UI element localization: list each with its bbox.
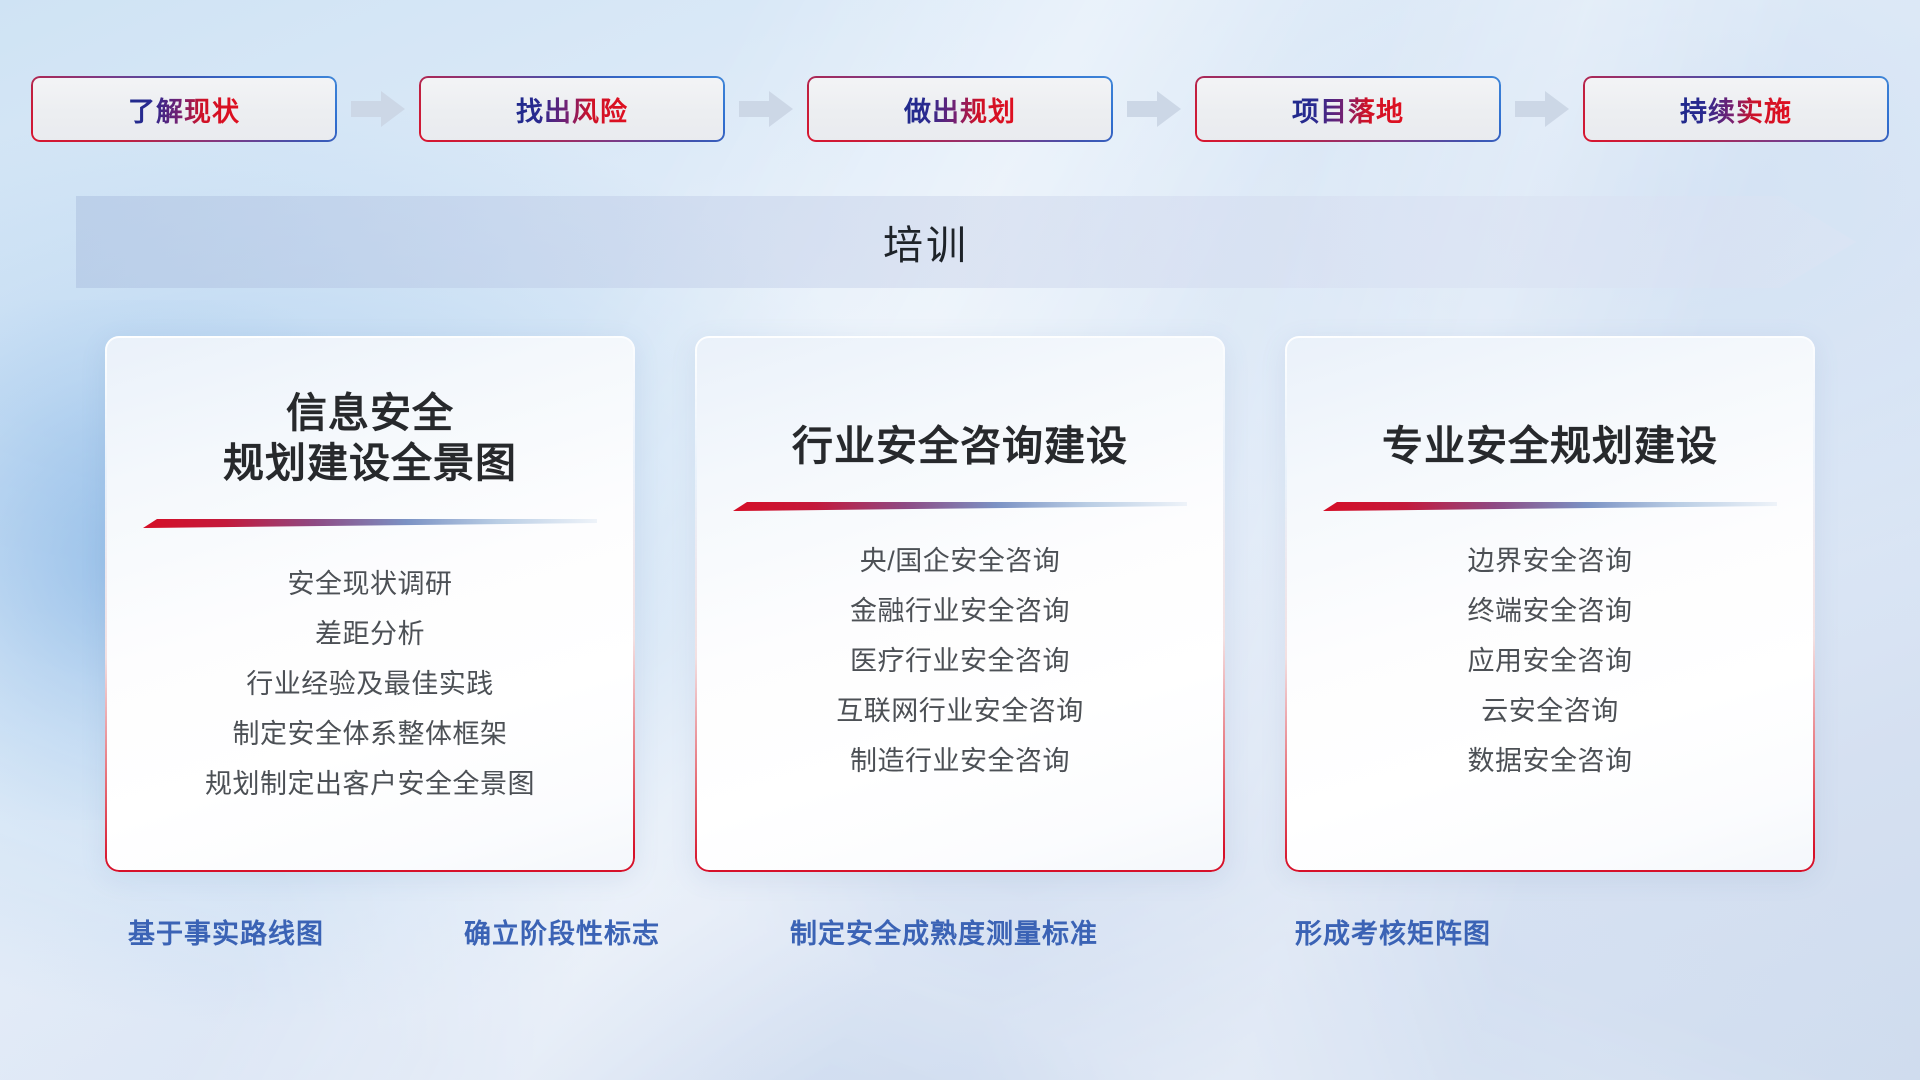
card-divider-rule: [733, 501, 1187, 512]
arrow-right-icon: [351, 91, 405, 127]
arrow-right-icon: [1127, 91, 1181, 127]
footnote-label-2: 确立阶段性标志: [464, 912, 660, 951]
list-item: 医疗行业安全咨询: [850, 636, 1070, 686]
step-box-1[interactable]: 了解现状: [31, 76, 337, 142]
step-label-4: 项目落地: [1292, 90, 1404, 129]
banner-title: 培训: [76, 196, 1856, 288]
list-item: 终端安全咨询: [1468, 586, 1633, 636]
list-item: 数据安全咨询: [1468, 736, 1633, 786]
card-row: 信息安全 规划建设全景图: [0, 336, 1920, 872]
footnote-row: 基于事实路线图 确立阶段性标志 制定安全成熟度测量标准 形成考核矩阵图: [0, 912, 1920, 964]
list-item: 行业经验及最佳实践: [246, 659, 494, 709]
card-title: 信息安全 规划建设全景图: [223, 388, 517, 488]
arrow-right-icon: [1515, 91, 1569, 127]
step-box-4[interactable]: 项目落地: [1195, 76, 1501, 142]
list-item: 云安全咨询: [1481, 686, 1619, 736]
process-step-row: 了解现状 找出风险 做出规划 项目落地 持续实施: [0, 76, 1920, 142]
card-title-line-1: 专业安全规划建设: [1382, 421, 1718, 471]
list-item: 规划制定出客户安全全景图: [205, 759, 535, 809]
arrow-right-icon: [739, 91, 793, 127]
list-item: 制造行业安全咨询: [850, 736, 1070, 786]
card-item-list: 边界安全咨询 终端安全咨询 应用安全咨询 云安全咨询 数据安全咨询: [1468, 536, 1633, 786]
card-title: 专业安全规划建设: [1382, 421, 1718, 471]
step-box-5[interactable]: 持续实施: [1583, 76, 1889, 142]
list-item: 央/国企安全咨询: [860, 536, 1061, 586]
list-item: 制定安全体系整体框架: [233, 709, 508, 759]
list-item: 边界安全咨询: [1468, 536, 1633, 586]
card-information-security-panorama[interactable]: 信息安全 规划建设全景图: [105, 336, 635, 872]
card-item-list: 央/国企安全咨询 金融行业安全咨询 医疗行业安全咨询 互联网行业安全咨询 制造行…: [836, 536, 1084, 786]
card-title-line-1: 信息安全: [223, 388, 517, 438]
step-label-5: 持续实施: [1680, 90, 1792, 129]
footnote-label-3: 制定安全成熟度测量标准: [790, 912, 1098, 951]
card-divider-rule: [143, 518, 597, 529]
card-industry-security-consulting[interactable]: 行业安全咨询建设: [695, 336, 1225, 872]
step-box-2[interactable]: 找出风险: [419, 76, 725, 142]
step-label-2: 找出风险: [516, 90, 628, 129]
step-label-3: 做出规划: [904, 90, 1016, 129]
card-item-list: 安全现状调研 差距分析 行业经验及最佳实践 制定安全体系整体框架 规划制定出客户…: [205, 559, 535, 809]
card-divider-rule: [1323, 501, 1777, 512]
card-title-line-1: 行业安全咨询建设: [792, 421, 1128, 471]
card-title-line-2: 规划建设全景图: [223, 438, 517, 488]
footnote-label-1: 基于事实路线图: [128, 912, 324, 951]
card-professional-security-planning[interactable]: 专业安全规划建设: [1285, 336, 1815, 872]
step-box-3[interactable]: 做出规划: [807, 76, 1113, 142]
list-item: 差距分析: [315, 609, 425, 659]
list-item: 应用安全咨询: [1468, 636, 1633, 686]
training-banner: 培训: [76, 196, 1856, 288]
list-item: 安全现状调研: [288, 559, 453, 609]
card-title: 行业安全咨询建设: [792, 421, 1128, 471]
footnote-label-4: 形成考核矩阵图: [1295, 912, 1491, 951]
step-label-1: 了解现状: [128, 90, 240, 129]
list-item: 金融行业安全咨询: [850, 586, 1070, 636]
list-item: 互联网行业安全咨询: [836, 686, 1084, 736]
